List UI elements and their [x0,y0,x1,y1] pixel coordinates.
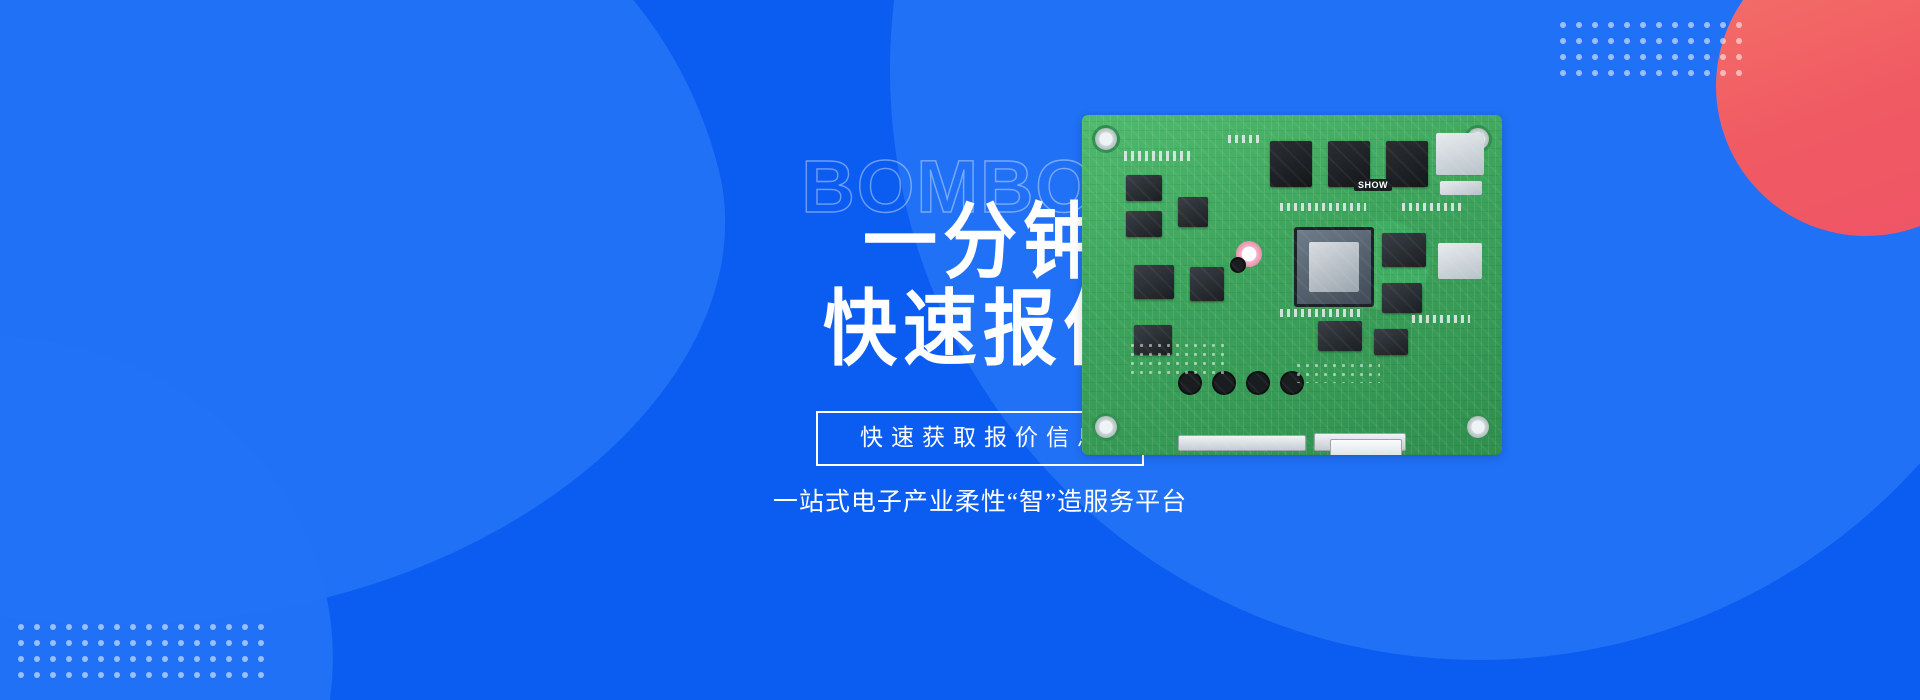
decor-dot [1560,38,1566,44]
trace-group [1412,315,1470,323]
decor-dot [34,624,40,630]
decor-dot [114,624,120,630]
decor-dot [194,624,200,630]
decor-dot [130,624,136,630]
decor-dot [130,672,136,678]
decor-dot [242,656,248,662]
decor-dot [146,640,152,646]
decor-dot [210,672,216,678]
decor-dot [1672,54,1678,60]
decor-dot [1576,54,1582,60]
decor-dot [1624,70,1630,76]
decor-dot [1688,70,1694,76]
trace-group [1124,151,1192,161]
decor-dot [194,656,200,662]
decor-dot [1736,70,1742,76]
decor-dot [114,656,120,662]
decor-dot [130,640,136,646]
decor-dot [18,672,24,678]
decor-dot [98,656,104,662]
decor-dot [66,672,72,678]
connector-pad [1440,181,1482,195]
decor-dot [1720,70,1726,76]
decor-dot [1672,38,1678,44]
capacitor [1280,371,1304,395]
decor-dot [258,656,264,662]
capacitor [1230,257,1246,273]
decor-dot [50,640,56,646]
decor-dot [162,672,168,678]
decor-dot [210,656,216,662]
decor-dot [1736,22,1742,28]
cpu-chip [1294,227,1374,307]
mounting-hole [1092,413,1120,441]
via-field [1294,361,1380,383]
decor-dot [1592,22,1598,28]
trace-group [1228,135,1260,143]
decor-dot [1736,54,1742,60]
decor-dot [1672,70,1678,76]
decor-dot [178,656,184,662]
decor-dot [82,656,88,662]
dot-grid-top-right [1560,22,1742,76]
shield-can [1436,133,1484,175]
decor-dot [18,640,24,646]
decor-dot [66,640,72,646]
decor-dot [1656,38,1662,44]
decor-dot [98,624,104,630]
trace-group [1402,203,1462,211]
promo-banner: BOMBOM 一分钟 快速报价 快速获取报价信息 一站式电子产业柔性“智”造服务… [0,0,1920,700]
decor-dot [242,672,248,678]
decor-dot [178,672,184,678]
decor-dot [1608,22,1614,28]
decor-dot [1608,70,1614,76]
hero-subtitle: 一站式电子产业柔性“智”造服务平台 [640,482,1320,518]
decor-dot [34,656,40,662]
capacitor [1178,371,1202,395]
pcb-substrate: SHOW [1082,115,1502,455]
ic-chip [1134,325,1172,355]
decor-dot [1576,22,1582,28]
ic-chip [1126,211,1162,237]
decor-dot [50,672,56,678]
decor-dot [50,624,56,630]
decor-dot [1656,22,1662,28]
decor-dot [226,624,232,630]
memory-chip [1386,141,1428,187]
decor-dot [1704,54,1710,60]
decor-dot [1688,54,1694,60]
decor-dot [82,672,88,678]
silkscreen-label: SHOW [1354,179,1392,191]
decor-dot [1688,22,1694,28]
decor-dot [1624,38,1630,44]
shield-can [1438,243,1482,279]
dot-grid-bottom-left [18,624,264,678]
decor-dot [1624,54,1630,60]
decor-dot [226,640,232,646]
decor-dot [162,656,168,662]
decor-dot [1640,22,1646,28]
decor-dot [50,656,56,662]
decor-dot [242,640,248,646]
trace-group [1280,309,1360,317]
decor-dot [1608,38,1614,44]
decor-dot [1592,38,1598,44]
decor-dot [178,640,184,646]
decor-dot [258,624,264,630]
memory-chip [1270,141,1312,187]
ic-chip [1382,283,1422,313]
decor-dot [1640,70,1646,76]
ic-chip [1190,267,1224,301]
ic-chip [1382,233,1426,267]
decor-dot [210,624,216,630]
ic-chip [1178,197,1208,227]
edge-connector [1178,435,1306,451]
decor-dot [226,672,232,678]
decor-dot [82,640,88,646]
decor-dot [1704,70,1710,76]
decor-dot [1720,22,1726,28]
ic-chip [1374,329,1408,355]
capacitor [1212,371,1236,395]
mounting-hole [1464,413,1492,441]
decor-dot [114,640,120,646]
decor-dot [226,656,232,662]
decor-dot [130,656,136,662]
decor-dot [1576,38,1582,44]
trace-group [1280,203,1366,211]
decor-dot [1640,38,1646,44]
decor-dot [1720,54,1726,60]
decor-dot [146,624,152,630]
via-field [1128,341,1224,375]
decor-dot [1640,54,1646,60]
decor-dot [146,672,152,678]
pcb-board-image: SHOW [1082,115,1502,455]
decor-dot [1688,38,1694,44]
decor-dot [1560,70,1566,76]
decor-dot [194,640,200,646]
decor-dot [194,672,200,678]
decor-dot [1656,54,1662,60]
decor-dot [210,640,216,646]
decor-dot [1592,70,1598,76]
decor-dot [146,656,152,662]
decor-dot [1656,70,1662,76]
decor-dot [82,624,88,630]
decor-dot [1560,54,1566,60]
decor-dot [258,672,264,678]
edge-connector [1314,433,1406,451]
decor-dot [66,624,72,630]
decor-dot [1624,22,1630,28]
ic-chip [1126,175,1162,201]
decor-dot [1560,22,1566,28]
decor-dot [18,624,24,630]
decor-dot [1704,22,1710,28]
decor-dot [178,624,184,630]
decor-dot [98,672,104,678]
ic-chip [1318,321,1362,351]
decor-dot [1736,38,1742,44]
decor-dot [66,656,72,662]
decor-dot [1704,38,1710,44]
decor-dot [1576,70,1582,76]
decor-dot [114,672,120,678]
decor-dot [242,624,248,630]
decor-dot [18,656,24,662]
decor-dot [34,672,40,678]
decor-dot [162,640,168,646]
decor-dot [1592,54,1598,60]
mounting-hole [1092,125,1120,153]
memory-chip [1328,141,1370,187]
ic-chip [1134,265,1174,299]
decor-dot [1672,22,1678,28]
io-port [1330,439,1402,455]
capacitor [1246,371,1270,395]
pink-standoff [1236,241,1262,267]
decor-dot [162,624,168,630]
decor-dot [98,640,104,646]
decor-dot [1720,38,1726,44]
decor-dot [34,640,40,646]
decor-dot [1608,54,1614,60]
mounting-hole [1464,125,1492,153]
decor-dot [258,640,264,646]
